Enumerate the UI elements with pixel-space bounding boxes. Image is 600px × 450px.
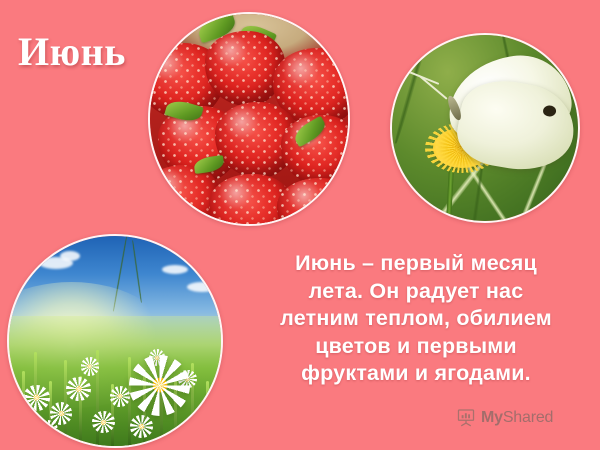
photo-strawberries [148,12,350,226]
photo-butterfly [390,33,580,223]
body-line: Июнь – первый месяц [240,250,592,278]
presentation-chart-icon [456,408,476,427]
watermark-suffix: Shared [503,409,553,426]
slide-canvas: Июнь [0,0,600,450]
butterfly-illustration [392,35,578,221]
photo-daisy-meadow [7,234,223,448]
body-line: лета. Он радует нас [240,278,592,306]
body-line: летним теплом, обилием [240,305,592,333]
watermark-text: MyShared [481,409,553,427]
body-paragraph: Июнь – первый месяц лета. Он радует нас … [240,250,592,388]
daisy-meadow-illustration [9,236,221,446]
body-line: фруктами и ягодами. [240,360,592,388]
body-line: цветов и первыми [240,333,592,361]
page-title: Июнь [18,32,126,72]
watermark: MyShared [456,408,553,427]
watermark-prefix: My [481,409,503,426]
strawberry-illustration [150,14,348,224]
